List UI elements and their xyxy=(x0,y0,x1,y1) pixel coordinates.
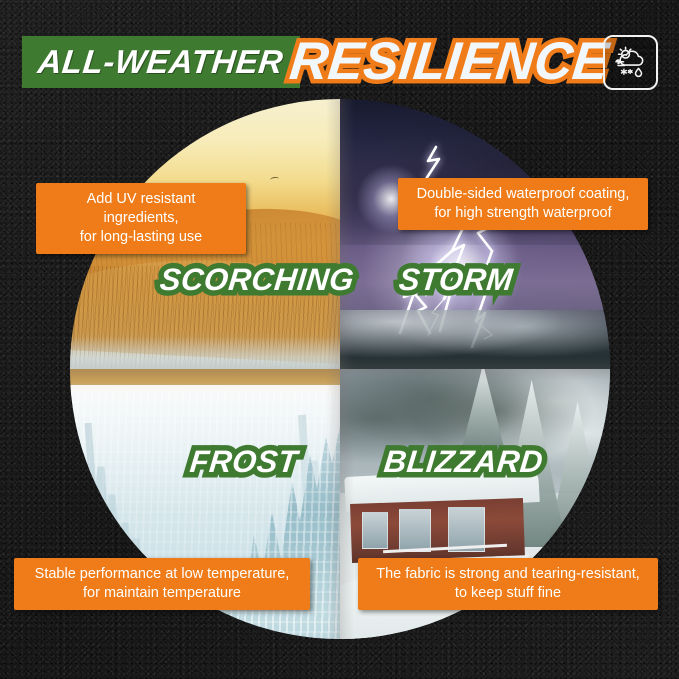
cabin-window xyxy=(399,509,431,552)
callout-waterproof-coating: Double-sided waterproof coating, for hig… xyxy=(398,178,648,230)
cabin-window xyxy=(362,512,388,549)
quadrant-label-blizzard: BLIZZARD xyxy=(382,444,545,480)
title-all-weather: ALL-WEATHER xyxy=(36,43,285,81)
callout-low-temperature: Stable performance at low temperature, f… xyxy=(14,558,310,610)
callout-line-1: Add UV resistant ingredients, xyxy=(49,190,233,228)
weather-icon-box xyxy=(603,35,658,90)
callout-line-1: The fabric is strong and tearing-resista… xyxy=(371,565,645,584)
callout-line-2: to keep stuff fine xyxy=(371,584,645,603)
product-feature-infographic: ALL-WEATHER RESILIENCE xyxy=(0,0,679,679)
callout-line-1: Double-sided waterproof coating, xyxy=(411,185,635,204)
header-banner: ALL-WEATHER RESILIENCE xyxy=(22,32,658,92)
callout-line-1: Stable performance at low temperature, xyxy=(27,565,297,584)
quadrant-label-storm: STORM xyxy=(397,262,515,298)
quadrant-label-frost: FROST xyxy=(188,444,299,480)
callout-tearing-resistance: The fabric is strong and tearing-resista… xyxy=(358,558,658,610)
scene-storm-lightning xyxy=(340,99,610,369)
callout-line-2: for long-lasting use xyxy=(49,228,233,247)
storm-horizon xyxy=(340,310,610,369)
callout-uv-resistance: Add UV resistant ingredients, for long-l… xyxy=(36,183,246,254)
heat-haze xyxy=(70,337,340,369)
quadrant-label-scorching: SCORCHING xyxy=(158,262,356,298)
bird-icon xyxy=(269,177,279,183)
title-green-bar: ALL-WEATHER xyxy=(22,36,300,88)
callout-line-2: for maintain temperature xyxy=(27,584,297,603)
title-resilience: RESILIENCE xyxy=(287,30,612,94)
callout-line-2: for high strength waterproof xyxy=(411,204,635,223)
weather-sun-cloud-wind-snow-rain-icon xyxy=(611,43,651,83)
